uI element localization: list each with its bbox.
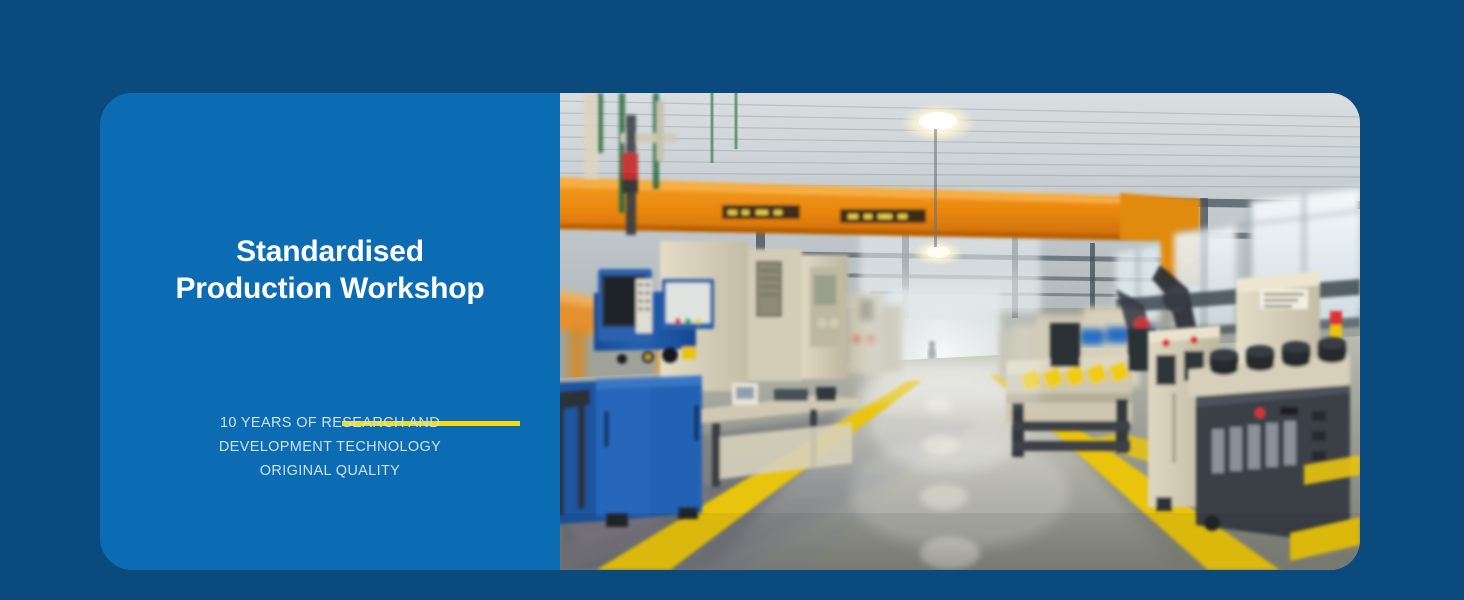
subtitle-line-2: DEVELOPMENT TECHNOLOGY bbox=[100, 435, 560, 459]
page-title: Standardised Production Workshop bbox=[100, 233, 560, 307]
promo-banner: Standardised Production Workshop 10 YEAR… bbox=[0, 0, 1464, 600]
subtitle-line-3: ORIGINAL QUALITY bbox=[100, 459, 560, 483]
subtitle-line-1: 10 YEARS OF RESEARCH AND bbox=[100, 411, 560, 435]
text-card-panel: Standardised Production Workshop 10 YEAR… bbox=[100, 93, 620, 570]
page-title-line-2: Production Workshop bbox=[100, 270, 560, 307]
workshop-photo bbox=[560, 93, 1360, 570]
subtitle-text: 10 YEARS OF RESEARCH AND DEVELOPMENT TEC… bbox=[100, 411, 560, 483]
page-title-line-1: Standardised bbox=[100, 233, 560, 270]
text-card-content: Standardised Production Workshop 10 YEAR… bbox=[100, 93, 560, 570]
workshop-photo-illustration bbox=[560, 93, 1360, 570]
